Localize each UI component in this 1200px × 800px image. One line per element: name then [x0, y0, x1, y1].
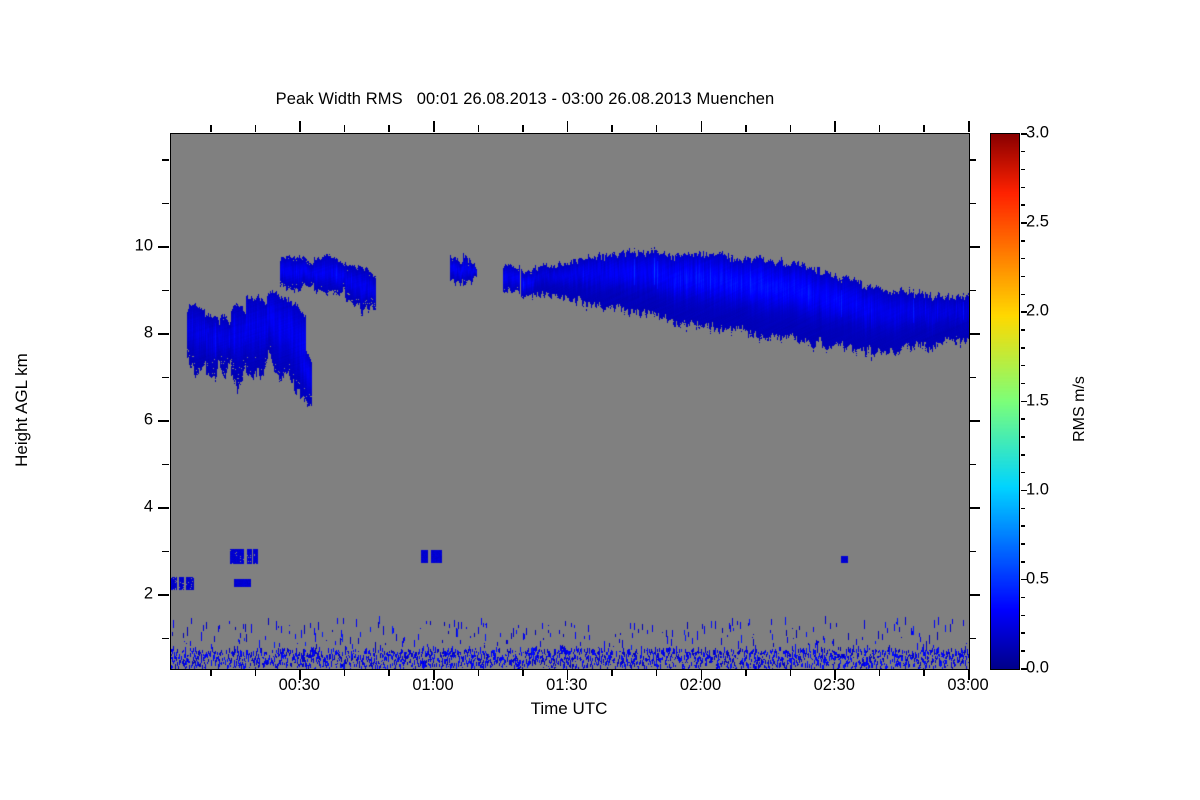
x-axis-minor-tick [210, 125, 212, 132]
colorbar-ticklabel: 0.5 [1026, 569, 1049, 588]
y-axis-minor-tick [162, 464, 169, 466]
colorbar-minor-tick [1021, 525, 1025, 527]
colorbar-ticklabel: 1.5 [1026, 391, 1049, 410]
x-axis-major-tick [433, 121, 435, 132]
x-axis-minor-tick [879, 125, 881, 132]
x-axis-minor-tick [388, 125, 390, 132]
y-axis-ticklabel: 8 [144, 324, 153, 343]
y-axis-minor-tick [162, 159, 169, 161]
colorbar-ticklabel: 3.0 [1026, 124, 1049, 143]
colorbar-ticklabel: 2.5 [1026, 213, 1049, 232]
x-axis-minor-tick [656, 669, 658, 676]
heatmap-plot-area[interactable] [170, 133, 970, 670]
x-axis-minor-tick [344, 125, 346, 132]
y-axis-major-tick [158, 507, 169, 509]
y-axis-major-tick [969, 594, 980, 596]
colorbar-minor-tick [1021, 543, 1025, 545]
x-axis-ticklabel: 01:30 [546, 676, 587, 695]
y-axis-major-tick [158, 333, 169, 335]
colorbar-minor-tick [1021, 597, 1025, 599]
colorbar-minor-tick [1021, 258, 1025, 260]
colorbar-minor-tick [1021, 418, 1025, 420]
x-axis-ticklabel: 02:00 [680, 676, 721, 695]
y-axis-minor-tick [162, 290, 169, 292]
x-axis-minor-tick [745, 669, 747, 676]
y-axis-minor-tick [162, 203, 169, 205]
colorbar-minor-tick [1021, 329, 1025, 331]
colorbar-minor-tick [1021, 365, 1025, 367]
y-axis-major-tick [158, 594, 169, 596]
colorbar[interactable] [990, 133, 1020, 670]
y-axis-major-tick [969, 420, 980, 422]
figure-canvas: Peak Width RMS 00:01 26.08.2013 - 03:00 … [0, 0, 1200, 800]
colorbar-minor-tick [1021, 383, 1025, 385]
x-axis-minor-tick [923, 125, 925, 132]
x-axis-major-tick [968, 121, 970, 132]
colorbar-label: RMS m/s [1071, 309, 1089, 509]
colorbar-minor-tick [1021, 632, 1025, 634]
colorbar-ticklabel: 0.0 [1026, 659, 1049, 678]
x-axis-minor-tick [790, 669, 792, 676]
y-axis-major-tick [969, 333, 980, 335]
x-axis-ticklabel: 02:30 [814, 676, 855, 695]
colorbar-minor-tick [1021, 508, 1025, 510]
x-axis-minor-tick [388, 669, 390, 676]
colorbar-minor-tick [1021, 187, 1025, 189]
y-axis-minor-tick [969, 551, 976, 553]
y-axis-minor-tick [969, 203, 976, 205]
colorbar-minor-tick [1021, 294, 1025, 296]
x-axis-major-tick [299, 121, 301, 132]
x-axis-label: Time UTC [170, 699, 968, 719]
x-axis-minor-tick [255, 125, 257, 132]
colorbar-minor-tick [1021, 276, 1025, 278]
colorbar-minor-tick [1021, 240, 1025, 242]
colorbar-minor-tick [1021, 472, 1025, 474]
x-axis-major-tick [567, 121, 569, 132]
colorbar-minor-tick [1021, 561, 1025, 563]
colorbar-minor-tick [1021, 615, 1025, 617]
y-axis-minor-tick [969, 638, 976, 640]
x-axis-minor-tick [522, 125, 524, 132]
x-axis-minor-tick [255, 669, 257, 676]
y-axis-label: Height AGL km [12, 310, 32, 510]
x-axis-minor-tick [656, 125, 658, 132]
y-axis-ticklabel: 4 [144, 498, 153, 517]
y-axis-minor-tick [162, 551, 169, 553]
x-axis-minor-tick [522, 669, 524, 676]
colorbar-gradient [991, 134, 1019, 669]
colorbar-minor-tick [1021, 169, 1025, 171]
y-axis-minor-tick [969, 290, 976, 292]
heatmap-data-layer [171, 134, 969, 669]
colorbar-minor-tick [1021, 151, 1025, 153]
x-axis-major-tick [834, 121, 836, 132]
colorbar-minor-tick [1021, 650, 1025, 652]
x-axis-minor-tick [879, 669, 881, 676]
y-axis-minor-tick [969, 159, 976, 161]
colorbar-minor-tick [1021, 204, 1025, 206]
x-axis-minor-tick [478, 125, 480, 132]
x-axis-ticklabel: 03:00 [947, 676, 988, 695]
x-axis-minor-tick [923, 669, 925, 676]
x-axis-minor-tick [344, 669, 346, 676]
x-axis-minor-tick [790, 125, 792, 132]
x-axis-minor-tick [478, 669, 480, 676]
x-axis-ticklabel: 01:00 [412, 676, 453, 695]
y-axis-minor-tick [162, 638, 169, 640]
colorbar-ticklabel: 2.0 [1026, 302, 1049, 321]
x-axis-minor-tick [745, 125, 747, 132]
y-axis-minor-tick [162, 377, 169, 379]
colorbar-ticklabel: 1.0 [1026, 480, 1049, 499]
colorbar-minor-tick [1021, 436, 1025, 438]
y-axis-major-tick [158, 420, 169, 422]
x-axis-minor-tick [611, 669, 613, 676]
y-axis-major-tick [969, 507, 980, 509]
y-axis-ticklabel: 2 [144, 585, 153, 604]
y-axis-major-tick [158, 246, 169, 248]
y-axis-major-tick [969, 246, 980, 248]
x-axis-ticklabel: 00:30 [279, 676, 320, 695]
y-axis-ticklabel: 6 [144, 411, 153, 430]
colorbar-minor-tick [1021, 454, 1025, 456]
y-axis-minor-tick [969, 464, 976, 466]
x-axis-minor-tick [611, 125, 613, 132]
x-axis-major-tick [701, 121, 703, 132]
y-axis-ticklabel: 10 [135, 237, 153, 256]
page-title: Peak Width RMS 00:01 26.08.2013 - 03:00 … [0, 90, 1050, 109]
colorbar-minor-tick [1021, 347, 1025, 349]
y-axis-minor-tick [969, 377, 976, 379]
x-axis-minor-tick [210, 669, 212, 676]
